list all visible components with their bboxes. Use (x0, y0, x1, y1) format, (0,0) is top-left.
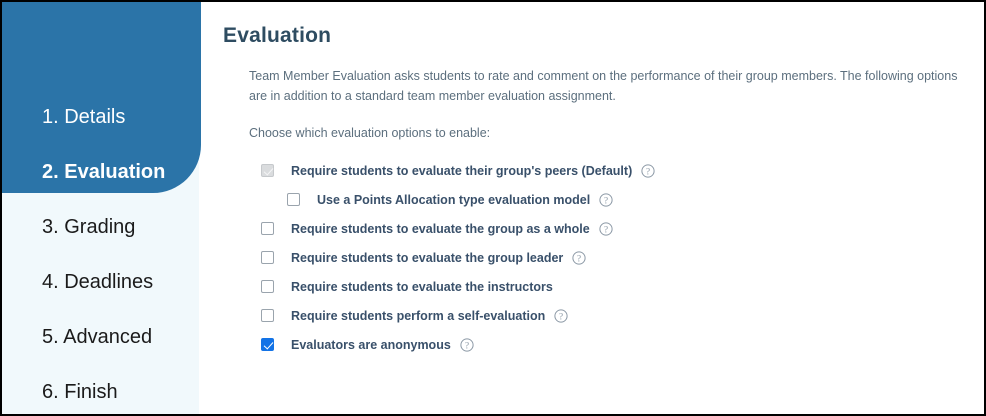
svg-text:?: ? (465, 340, 469, 350)
checkbox-require-evaluate-peers[interactable] (261, 164, 274, 177)
app-window: NEW ASSIGNMENT 1. Details 2. Evaluation … (0, 0, 986, 416)
option-row-peers[interactable]: Require students to evaluate their group… (199, 156, 984, 185)
svg-text:?: ? (646, 166, 650, 176)
choose-options-label: Choose which evaluation options to enabl… (199, 124, 984, 142)
help-circle-icon[interactable]: ? (572, 251, 586, 265)
help-circle-icon[interactable]: ? (641, 164, 655, 178)
help-circle-icon[interactable]: ? (460, 338, 474, 352)
checkbox-evaluate-group-as-whole[interactable] (261, 222, 274, 235)
wizard-step-list: 1. Details 2. Evaluation 3. Grading 4. D… (2, 90, 201, 416)
sidebar-item-grading[interactable]: 3. Grading (2, 200, 201, 255)
option-label-instructors: Require students to evaluate the instruc… (291, 280, 553, 294)
help-circle-icon[interactable]: ? (554, 309, 568, 323)
checkbox-points-allocation-model[interactable] (287, 193, 300, 206)
sidebar-item-evaluation[interactable]: 2. Evaluation (2, 145, 201, 200)
sidebar-item-finish[interactable]: 6. Finish (2, 365, 201, 416)
option-row-instructors[interactable]: Require students to evaluate the instruc… (199, 272, 984, 301)
help-circle-icon[interactable]: ? (599, 193, 613, 207)
main-content: Evaluation Team Member Evaluation asks s… (199, 2, 984, 414)
sidebar-item-deadlines[interactable]: 4. Deadlines (2, 255, 201, 310)
option-row-points-allocation[interactable]: Use a Points Allocation type evaluation … (199, 185, 984, 214)
option-label-group-as-whole: Require students to evaluate the group a… (291, 222, 590, 236)
option-label-peers: Require students to evaluate their group… (291, 164, 632, 178)
checkbox-evaluate-group-leader[interactable] (261, 251, 274, 264)
evaluation-options-list: Require students to evaluate their group… (199, 142, 984, 359)
svg-text:?: ? (559, 311, 563, 321)
option-row-group-leader[interactable]: Require students to evaluate the group l… (199, 243, 984, 272)
svg-text:?: ? (604, 195, 608, 205)
option-label-group-leader: Require students to evaluate the group l… (291, 251, 563, 265)
checkbox-evaluators-anonymous[interactable] (261, 338, 274, 351)
wizard-sidebar: NEW ASSIGNMENT 1. Details 2. Evaluation … (2, 2, 199, 414)
option-row-self-evaluation[interactable]: Require students perform a self-evaluati… (199, 301, 984, 330)
checkbox-self-evaluation[interactable] (261, 309, 274, 322)
option-row-group-as-whole[interactable]: Require students to evaluate the group a… (199, 214, 984, 243)
sidebar-item-details[interactable]: 1. Details (2, 90, 201, 145)
option-row-anonymous-evaluators[interactable]: Evaluators are anonymous ? (199, 330, 984, 359)
checkbox-evaluate-instructors[interactable] (261, 280, 274, 293)
help-circle-icon[interactable]: ? (599, 222, 613, 236)
option-label-points-allocation: Use a Points Allocation type evaluation … (317, 193, 590, 207)
page-title: Evaluation (199, 2, 984, 48)
option-label-anonymous-evaluators: Evaluators are anonymous (291, 338, 451, 352)
svg-text:?: ? (577, 253, 581, 263)
sidebar-item-advanced[interactable]: 5. Advanced (2, 310, 201, 365)
option-label-self-evaluation: Require students perform a self-evaluati… (291, 309, 545, 323)
svg-text:?: ? (604, 224, 608, 234)
intro-paragraph: Team Member Evaluation asks students to … (199, 66, 984, 106)
